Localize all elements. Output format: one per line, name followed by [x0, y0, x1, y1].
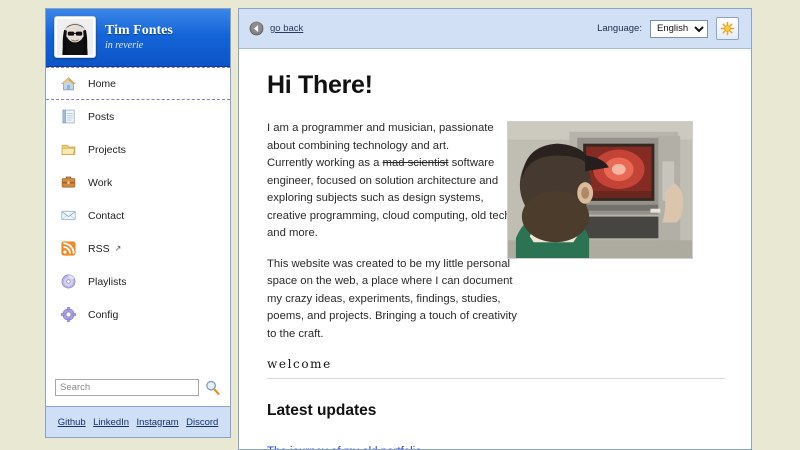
sidebar-item-label: RSS	[88, 243, 110, 255]
folder-icon	[60, 141, 77, 158]
sidebar-item-label: Config	[88, 309, 118, 321]
sidebar-item-projects[interactable]: Projects	[46, 133, 230, 166]
profile-tagline: in reverie	[105, 40, 173, 52]
sidebar-item-label: Contact	[88, 210, 124, 222]
sidebar-item-work[interactable]: Work	[46, 166, 230, 199]
section-divider	[267, 378, 725, 379]
content-panel: go back Language: English	[238, 8, 752, 450]
intro-text: I am a programmer and musician, passiona…	[267, 120, 519, 374]
go-back-button[interactable]: go back	[249, 21, 303, 36]
back-arrow-icon	[249, 21, 264, 36]
notebook-icon	[60, 108, 77, 125]
social-link-instagram[interactable]: Instagram	[136, 417, 178, 428]
avatar	[54, 16, 96, 58]
hero-photo-image	[508, 122, 692, 258]
social-link-linkedin[interactable]: LinkedIn	[93, 417, 129, 428]
sidebar-item-label: Projects	[88, 144, 126, 156]
external-link-arrow-icon: ↗	[115, 244, 122, 253]
search-row	[46, 371, 230, 406]
language-select[interactable]: English	[650, 20, 708, 38]
gear-icon	[60, 306, 77, 323]
profile-text: Tim Fontes in reverie	[105, 23, 173, 52]
page-root: Tim Fontes in reverie Home	[0, 0, 800, 450]
intro-strikethrough: mad scientist	[383, 157, 449, 169]
avatar-photo	[57, 19, 93, 55]
cd-icon	[60, 273, 77, 290]
rss-icon	[60, 240, 77, 257]
sidebar: Tim Fontes in reverie Home	[45, 8, 231, 438]
sun-icon	[720, 21, 735, 36]
intro-line-1: I am a programmer and musician, passiona…	[267, 122, 494, 152]
go-back-label: go back	[270, 23, 303, 34]
section-title-latest-updates: Latest updates	[267, 402, 376, 420]
sidebar-item-label: Posts	[88, 111, 114, 123]
list-item: The journey of my old portfolio ↗ I took…	[267, 442, 687, 449]
social-link-github[interactable]: Github	[58, 417, 86, 428]
sidebar-item-contact[interactable]: Contact	[46, 199, 230, 232]
social-links: Github LinkedIn Instagram Discord	[46, 406, 230, 437]
sidebar-nav: Home Posts Projects	[46, 67, 230, 371]
theme-toggle-button[interactable]	[716, 17, 739, 40]
language-label: Language:	[597, 23, 642, 34]
page-title: Hi There!	[267, 71, 721, 100]
update-title-link[interactable]: The journey of my old portfolio ↗	[267, 446, 432, 449]
external-link-arrow-icon: ↗	[425, 447, 433, 449]
update-title-text: The journey of my old portfolio	[267, 446, 422, 449]
sidebar-item-label: Playlists	[88, 276, 127, 288]
sidebar-item-config[interactable]: Config	[46, 298, 230, 331]
house-icon	[60, 75, 77, 92]
envelope-icon	[60, 207, 77, 224]
top-toolbar: go back Language: English	[239, 9, 751, 49]
sidebar-item-label: Work	[88, 177, 112, 189]
intro-paragraph-2: This website was created to be my little…	[267, 256, 519, 344]
profile-name: Tim Fontes	[105, 23, 173, 39]
search-input[interactable]	[55, 379, 199, 396]
intro-line-2b: software engineer, focused on solution a…	[267, 157, 511, 239]
hero-photo	[507, 121, 693, 259]
social-link-discord[interactable]: Discord	[186, 417, 218, 428]
intro-line-2a: Currently working as a	[267, 157, 383, 169]
briefcase-icon	[60, 174, 77, 191]
sidebar-item-label: Home	[88, 78, 116, 90]
sidebar-item-home[interactable]: Home	[46, 67, 230, 100]
magnifier-icon[interactable]	[204, 379, 221, 396]
profile-header: Tim Fontes in reverie	[46, 9, 230, 67]
intro-paragraph-1: I am a programmer and musician, passiona…	[267, 120, 519, 243]
sidebar-item-rss[interactable]: RSS ↗	[46, 232, 230, 265]
sidebar-item-posts[interactable]: Posts	[46, 100, 230, 133]
sidebar-item-playlists[interactable]: Playlists	[46, 265, 230, 298]
welcome-signature: welcome	[267, 356, 519, 374]
document-body: Hi There! I am a programmer and musician…	[239, 49, 751, 449]
